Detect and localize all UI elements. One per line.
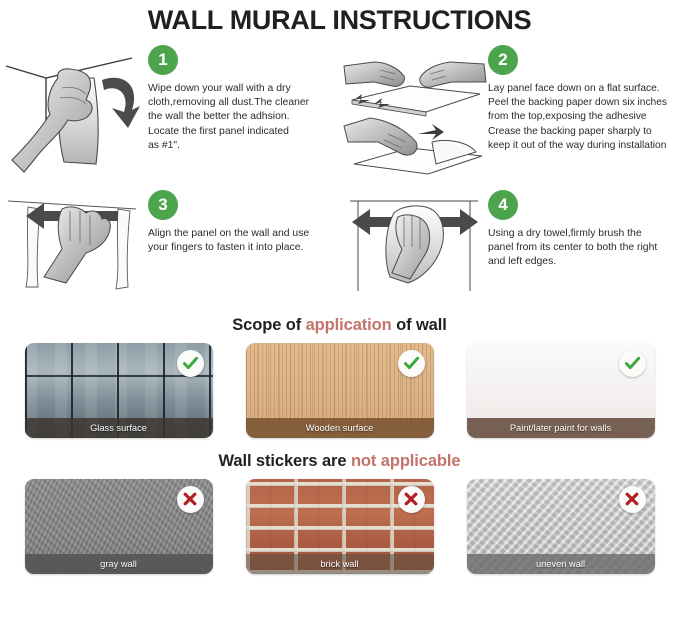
surface-card-paint[interactable]: Paint/later paint for walls xyxy=(467,343,655,438)
surface-card-brick-wall[interactable]: brick wall xyxy=(246,479,434,574)
step-4: 4 Using a dry towel,firmly brush the pan… xyxy=(340,187,679,302)
scope-section: Scope of application of wall Glass surfa… xyxy=(0,316,679,438)
step-1-badge: 1 xyxy=(148,45,178,75)
cross-icon xyxy=(177,486,204,513)
step-2-illustration xyxy=(340,42,488,187)
surface-card-gray-wall[interactable]: gray wall xyxy=(25,479,213,574)
step-2-body: 2 Lay panel face down on a flat surface.… xyxy=(488,42,679,153)
step-3-badge: 3 xyxy=(148,190,178,220)
check-icon xyxy=(619,350,646,377)
step-2-text: Lay panel face down on a flat surface. P… xyxy=(488,82,673,153)
step-4-text: Using a dry towel,firmly brush the panel… xyxy=(488,227,673,270)
scope-card-row: Glass surface Wooden surface Paint/later… xyxy=(0,343,679,438)
surface-card-glass[interactable]: Glass surface xyxy=(25,343,213,438)
surface-card-brick-wall-label: brick wall xyxy=(246,554,434,574)
scope-heading-after: of wall xyxy=(392,316,447,334)
surface-card-uneven-wall[interactable]: uneven wall xyxy=(467,479,655,574)
step-4-badge: 4 xyxy=(488,190,518,220)
scope-heading-highlight: application xyxy=(306,316,392,334)
step-2: 2 Lay panel face down on a flat surface.… xyxy=(340,42,679,187)
not-applicable-heading: Wall stickers are not applicable xyxy=(0,452,679,471)
step-1-body: 1 Wipe down your wall with a dry cloth,r… xyxy=(148,42,340,153)
page-title: WALL MURAL INSTRUCTIONS xyxy=(0,0,679,36)
not-applicable-card-row: gray wall brick wall uneven wall xyxy=(0,479,679,574)
not-applicable-heading-before: Wall stickers are xyxy=(219,452,351,470)
scope-heading: Scope of application of wall xyxy=(0,316,679,335)
step-3-body: 3 Align the panel on the wall and use yo… xyxy=(148,187,340,256)
surface-card-glass-label: Glass surface xyxy=(25,418,213,438)
cross-icon xyxy=(619,486,646,513)
step-1-illustration xyxy=(0,42,148,187)
step-1: 1 Wipe down your wall with a dry cloth,r… xyxy=(0,42,340,187)
step-2-badge: 2 xyxy=(488,45,518,75)
step-4-illustration xyxy=(340,187,488,302)
surface-card-paint-label: Paint/later paint for walls xyxy=(467,418,655,438)
step-3-text: Align the panel on the wall and use your… xyxy=(148,227,334,256)
check-icon xyxy=(398,350,425,377)
steps-grid: 1 Wipe down your wall with a dry cloth,r… xyxy=(0,42,679,302)
scope-heading-before: Scope of xyxy=(232,316,305,334)
check-icon xyxy=(177,350,204,377)
step-3: 3 Align the panel on the wall and use yo… xyxy=(0,187,340,302)
cross-icon xyxy=(398,486,425,513)
surface-card-wooden[interactable]: Wooden surface xyxy=(246,343,434,438)
step-1-text: Wipe down your wall with a dry cloth,rem… xyxy=(148,82,334,153)
not-applicable-section: Wall stickers are not applicable gray wa… xyxy=(0,452,679,574)
step-3-illustration xyxy=(0,187,148,302)
surface-card-gray-wall-label: gray wall xyxy=(25,554,213,574)
surface-card-wooden-label: Wooden surface xyxy=(246,418,434,438)
surface-card-uneven-wall-label: uneven wall xyxy=(467,554,655,574)
step-4-body: 4 Using a dry towel,firmly brush the pan… xyxy=(488,187,679,270)
not-applicable-heading-highlight: not applicable xyxy=(351,452,461,470)
